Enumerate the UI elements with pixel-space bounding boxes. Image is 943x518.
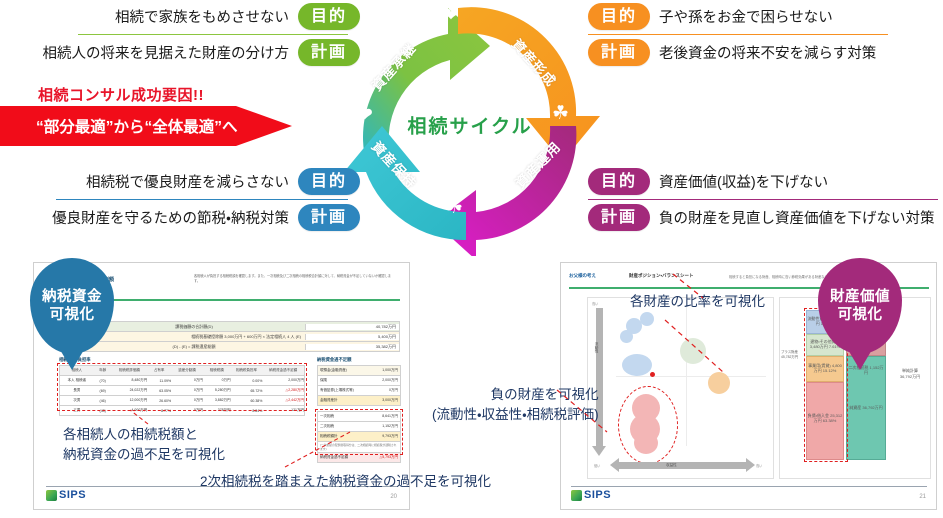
left-summary-table: 課税価額の合計額(D) 40,782万円 相続税基礎控除額 3,000万円 + … xyxy=(82,321,400,352)
bubble-12 xyxy=(640,312,654,326)
quadrant-management-purpose: 目的 資産価値(収益)を下げない xyxy=(588,168,828,195)
side-row-0-value: 1,000万円 xyxy=(364,368,400,373)
quadrant-management-plan: 計画 負の財産を見直し資産価値を下げない対策 xyxy=(588,204,935,231)
x-axis-arrow-right xyxy=(746,458,755,472)
quadrant-management-purpose-text: 資産価値(収益)を下げない xyxy=(659,171,828,192)
left-logo-text: SIPS xyxy=(59,489,86,501)
summary-row-1-label: 相続税基礎控除額 3,000万円 + 600万円 × 法定相続人 4 人 (E) xyxy=(83,334,305,340)
quadrant-succession-purpose-badge: 目的 xyxy=(298,3,360,30)
slide-root: 資産承継 資産形成 資産運用 資産保持 ❤ ☘ ☘ ❤ 相続サイクル 相続で家族… xyxy=(0,0,943,518)
left-doc-note: 各相続人が負担する相続税額を確認します。また、一次相続及び二次相続の相続税合計額… xyxy=(194,274,394,285)
stack-right-seg-2-label: 純資産 36,792万円 xyxy=(847,405,885,410)
quadrant-succession-plan: 相続人の将来を見据えた財産の分け方 計画 xyxy=(0,39,360,66)
quadrant-preservation-plan-text: 優良財産を守るための節税・納税対策 xyxy=(52,207,289,228)
quadrant-formation-plan-badge: 計画 xyxy=(588,39,650,66)
right-annotation-left-line2: (流動性・収益性・相続税評価) xyxy=(432,405,599,425)
left-table-highlight-box xyxy=(57,363,307,411)
quadrant-preservation-plan: 優良財産を守るための節税・納税対策 計画 xyxy=(0,204,360,231)
left-side-title: 納税資金過不足額 xyxy=(317,357,351,363)
right-panel-logo: SIPS xyxy=(571,489,611,501)
bubble-gridline-h xyxy=(616,376,766,377)
side-row-2-label: 有価証券(上場株式等) xyxy=(318,388,364,393)
quadrant-formation-plan: 計画 老後資金の将来不安を減らす対策 xyxy=(588,39,876,66)
bubble-gridline-v xyxy=(686,306,687,446)
callout-right-line1: 財産価値 xyxy=(830,288,890,306)
quadrant-succession-plan-badge: 計画 xyxy=(298,39,360,66)
quadrant-succession-purpose-text: 相続で家族をもめさせない xyxy=(115,6,289,27)
left-side-table: 現預金(金融資産) 1,000万円 保険 2,000万円 有価証券(上場株式等)… xyxy=(317,365,401,406)
callout-left-line1: 納税資金 xyxy=(42,288,102,306)
left-side-highlight-box xyxy=(315,409,403,455)
quadrant-formation-purpose-text: 子や孫をお金で困らせない xyxy=(659,6,833,27)
quadrant-management-plan-badge: 計画 xyxy=(588,204,650,231)
quadrant-formation-plan-text: 老後資金の将来不安を減らす対策 xyxy=(659,42,876,63)
side-row-0-label: 現預金(金融資産) xyxy=(318,368,364,373)
quadrant-succession-plan-text: 相続人の将来を見据えた財産の分け方 xyxy=(43,42,290,63)
quadrant-formation-purpose-badge: 目的 xyxy=(588,3,650,30)
quadrant-management-plan-text: 負の財産を見直し資産価値を下げない対策 xyxy=(659,207,935,228)
bubble-axis-hint: 高い xyxy=(592,301,598,306)
side-row-3-value: 3,000万円 xyxy=(364,398,400,403)
y-axis-bar xyxy=(596,308,603,448)
left-annotation-1: 各相続人の相続税額と 納税資金の過不足を可視化 xyxy=(63,425,225,464)
right-annotation-left: 負の財産を可視化 (流動性・収益性・相続税評価) xyxy=(432,385,599,424)
x-axis-bar xyxy=(618,462,748,469)
summary-row-2-value: 35,382万円 xyxy=(305,344,399,350)
quadrant-formation-divider xyxy=(588,34,888,35)
quadrant-management-purpose-badge: 目的 xyxy=(588,168,650,195)
right-doc-tab: お父様の考え xyxy=(569,273,596,279)
bubble-origin-dot xyxy=(650,372,655,377)
bubble-chart-frame: 高い 流動性 収益性 低い 高い xyxy=(587,297,774,479)
side-total-label: 納税資金過不足額 xyxy=(318,455,364,460)
x-axis-label: 収益性 xyxy=(666,463,677,468)
summary-row-2-label: (D) - (E) = 課税遺産総額 xyxy=(83,344,305,350)
side-row-1-label: 保険 xyxy=(318,378,364,383)
bubble-11 xyxy=(620,330,633,343)
right-annotation-top: 各財産の比率を可視化 xyxy=(630,292,765,312)
callout-left-line2: 可視化 xyxy=(50,306,95,324)
side-row-3-label: 金融資産計 xyxy=(318,398,364,403)
side-total-value: △5,793万円 xyxy=(364,455,400,460)
success-factor-banner: 相続コンサル成功要因!! “部分最適”から“全体最適”へ xyxy=(0,84,292,146)
banner-headline: 相続コンサル成功要因!! xyxy=(38,84,204,105)
summary-row-1-value: 5,400万円 xyxy=(305,334,399,340)
y-axis-label: 流動性 xyxy=(595,342,600,353)
banner-arrow-shape: “部分最適”から“全体最適”へ xyxy=(0,106,292,146)
sips-logo-icon xyxy=(571,490,582,501)
quadrant-management-divider xyxy=(588,199,938,200)
sprout-coins-icon: ☘ xyxy=(552,102,569,125)
left-doc-rule xyxy=(82,299,400,301)
bubble-financial-asset xyxy=(622,354,652,376)
right-annotation-left-line1: 負の財産を可視化 xyxy=(432,385,599,405)
side-row-2-value: 0万円 xyxy=(364,388,400,393)
left-annotation-1-line2: 納税資金の過不足を可視化 xyxy=(63,445,225,465)
x-axis-arrow-left xyxy=(610,458,619,472)
quadrant-succession-divider xyxy=(78,34,348,35)
quadrant-preservation-purpose-badge: 目的 xyxy=(298,168,360,195)
right-page-number: 21 xyxy=(919,494,926,500)
left-page-number: 20 xyxy=(390,494,397,500)
hands-leaf-icon: ❤ xyxy=(357,104,373,127)
stack-note-left: プラス財産 45,782万円 xyxy=(781,350,805,360)
inheritance-cycle-diagram: 資産承継 資産形成 資産運用 資産保持 ❤ ☘ ☘ ❤ 相続サイクル xyxy=(330,0,610,256)
bubble-1 xyxy=(680,338,706,364)
stack-far-label: 単純計算 36,792万円 xyxy=(892,368,928,379)
cycle-arc-formation xyxy=(458,7,600,162)
quadrant-succession-purpose: 相続で家族をもめさせない 目的 xyxy=(0,3,360,30)
left-annotation-2: 2次相続税を踏まえた納税資金の過不足を可視化 xyxy=(200,472,491,492)
right-logo-text: SIPS xyxy=(584,489,611,501)
summary-row-0-label: 課税価額の合計額(D) xyxy=(83,324,305,330)
quadrant-preservation-purpose-text: 相続税で優良財産を減らさない xyxy=(86,171,289,192)
plant-coins-icon: ☘ xyxy=(446,196,463,219)
sips-logo-icon xyxy=(46,490,57,501)
banner-text: “部分最適”から“全体最適”へ xyxy=(0,115,238,137)
quadrant-formation-purpose: 目的 子や孫をお金で困らせない xyxy=(588,3,833,30)
right-footer-rule xyxy=(571,486,927,487)
quadrant-preservation-plan-badge: 計画 xyxy=(298,204,360,231)
x-axis-high: 高い xyxy=(756,463,762,468)
cycle-center-label: 相続サイクル xyxy=(407,112,532,139)
side-row-1-value: 2,000万円 xyxy=(364,378,400,383)
x-axis-low: 低い xyxy=(594,463,600,468)
left-annotation-1-line1: 各相続人の相続税額と xyxy=(63,425,225,445)
callout-right-line2: 可視化 xyxy=(838,306,883,324)
y-axis-arrowhead xyxy=(592,446,606,456)
quadrant-preservation-divider xyxy=(56,199,348,200)
right-doc-note: 相続すると負担になる財産、相続時に高い節税効果がある財産など xyxy=(729,274,828,279)
quadrant-preservation-purpose: 相続税で優良財産を減らさない 目的 xyxy=(0,168,360,195)
bubble-negative-highlight xyxy=(618,386,678,464)
summary-row-0-value: 40,782万円 xyxy=(305,324,399,330)
bubble-10 xyxy=(708,372,730,394)
right-doc-title: 財産ポジション・バランスシート xyxy=(629,273,693,279)
left-panel-logo: SIPS xyxy=(46,489,86,501)
stack-right-seg-1: 二次相続税 1,152万円 純資産 36,792万円 xyxy=(846,356,886,460)
heart-hand-icon: ❤ xyxy=(443,4,459,27)
